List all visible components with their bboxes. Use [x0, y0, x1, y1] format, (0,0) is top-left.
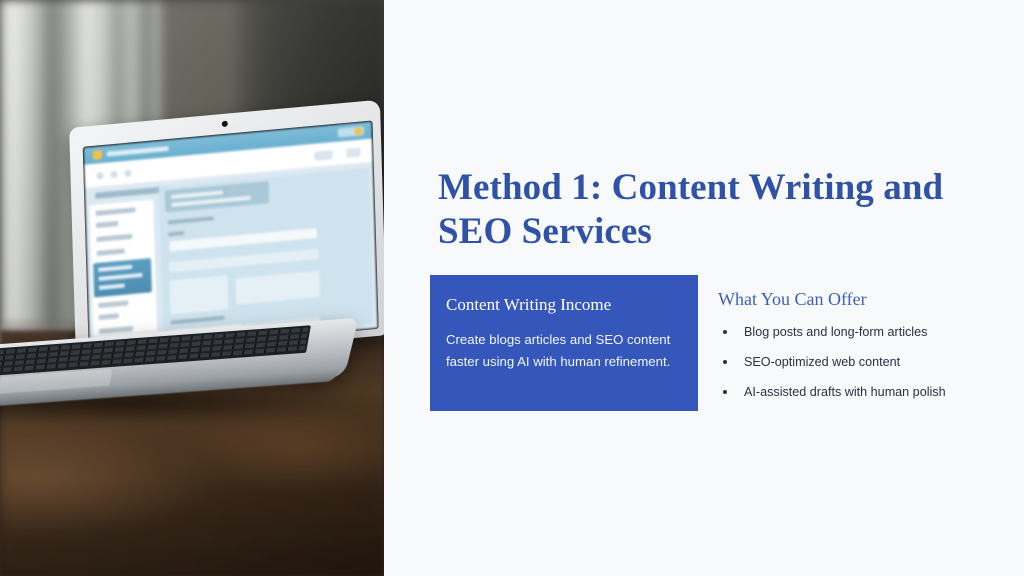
screen-sidebar-item: [96, 207, 136, 216]
screen-hero-card: [165, 181, 269, 212]
laptop: [0, 96, 384, 396]
webcam-icon: [222, 121, 228, 128]
screen-subbar-button: [315, 150, 333, 161]
screen-hero-line: [171, 190, 223, 199]
bullet-icon: [723, 390, 727, 394]
screen-sidebar-item: [98, 300, 128, 308]
card-body-text: Create blogs articles and SEO content fa…: [446, 329, 676, 373]
screen-app-logo-icon: [93, 150, 102, 160]
screen-sidebar-item: [97, 248, 125, 256]
content-panel: Method 1: Content Writing and SEO Servic…: [384, 0, 1024, 576]
screen-content-block: [169, 249, 319, 273]
list-item-label: SEO-optimized web content: [744, 355, 900, 369]
content-writing-income-card: Content Writing Income Create blogs arti…: [430, 275, 698, 411]
screen-sidebar-item: [99, 313, 119, 320]
screen-field-label: [168, 231, 184, 236]
screen-sidebar: [89, 200, 157, 348]
offer-column: What You Can Offer Blog posts and long-f…: [718, 288, 1008, 414]
screen-text-input: [168, 227, 318, 253]
offer-heading: What You Can Offer: [718, 288, 1008, 310]
bullet-icon: [723, 330, 727, 334]
screen-sidebar-selected-line: [99, 284, 125, 290]
list-item-label: AI-assisted drafts with human polish: [744, 385, 946, 399]
bullet-icon: [723, 360, 727, 364]
screen-field-label: [168, 216, 214, 224]
screen-content-block: [235, 271, 319, 305]
list-item: AI-assisted drafts with human polish: [718, 384, 1008, 400]
card-heading: Content Writing Income: [446, 295, 676, 315]
screen-sidebar-selected: [93, 258, 152, 297]
screen-main-panel: [159, 168, 374, 343]
list-item-label: Blog posts and long-form articles: [744, 325, 927, 339]
page-title: Method 1: Content Writing and SEO Servic…: [438, 166, 958, 254]
screen-sidebar-item: [96, 221, 118, 228]
screen-sidebar-selected-line: [99, 273, 143, 281]
list-item: Blog posts and long-form articles: [718, 324, 1008, 340]
screen-content-block: [170, 275, 229, 314]
slide: Method 1: Content Writing and SEO Servic…: [0, 0, 1024, 576]
offer-list: Blog posts and long-form articles SEO-op…: [718, 324, 1008, 400]
laptop-keyboard: [0, 325, 311, 376]
screen-field-label: [171, 316, 225, 325]
screen-topbar-badge-icon: [355, 127, 362, 135]
screen-tabs: [95, 186, 167, 199]
laptop-photo: [0, 0, 384, 576]
screen-subbar-button: [346, 148, 360, 158]
screen-sidebar-item: [96, 234, 132, 242]
list-item: SEO-optimized web content: [718, 354, 1008, 370]
screen-sidebar-selected-line: [98, 265, 132, 272]
